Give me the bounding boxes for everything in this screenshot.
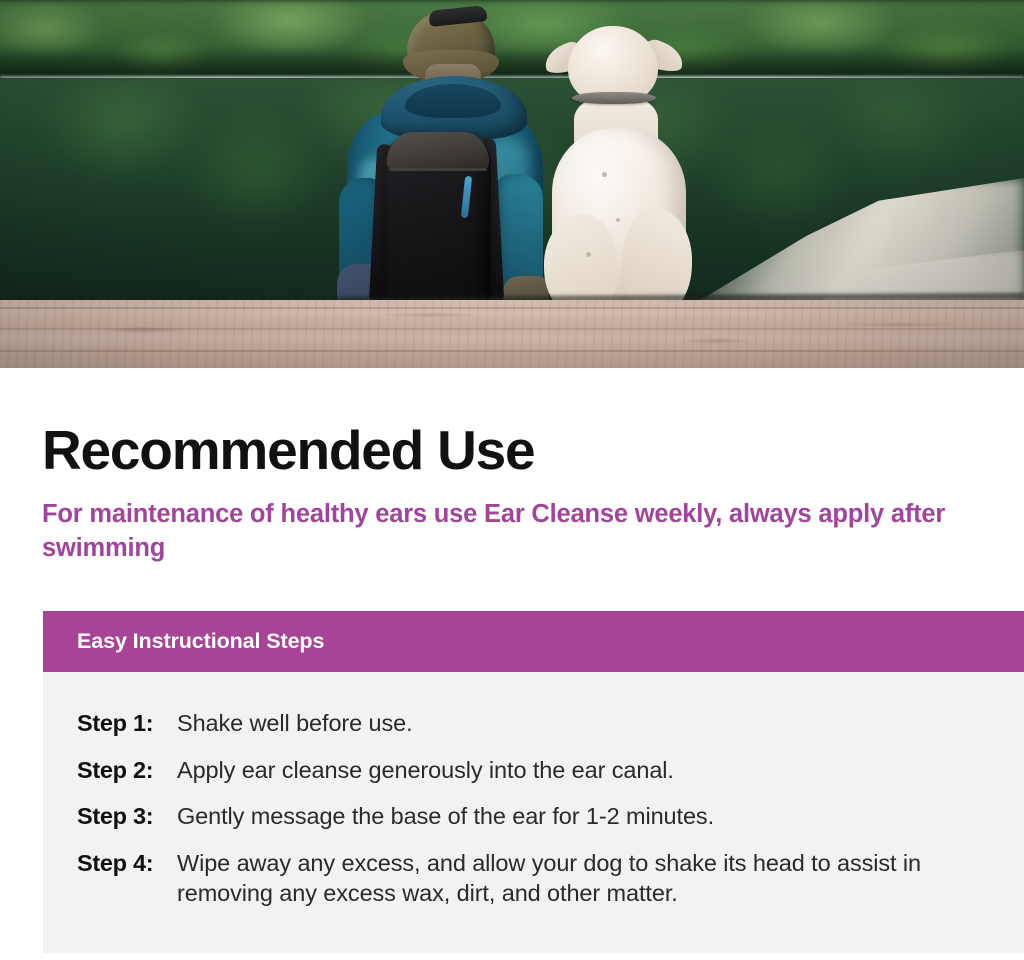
- step-label: Step 4:: [77, 848, 177, 879]
- step-label: Step 2:: [77, 755, 177, 786]
- backpack-top-panel: [387, 132, 489, 170]
- steps-list: Step 1: Shake well before use. Step 2: A…: [43, 672, 1024, 909]
- instructional-steps-panel: Easy Instructional Steps Step 1: Shake w…: [43, 611, 1024, 953]
- steps-panel-header-title: Easy Instructional Steps: [77, 629, 324, 654]
- steps-panel-header: Easy Instructional Steps: [43, 611, 1024, 672]
- list-item: Step 1: Shake well before use.: [77, 708, 984, 739]
- dog-marking: [616, 218, 620, 222]
- backpack-seam: [389, 168, 487, 171]
- list-item: Step 2: Apply ear cleanse generously int…: [77, 755, 984, 786]
- step-text: Wipe away any excess, and allow your dog…: [177, 848, 984, 909]
- list-item: Step 3: Gently message the base of the e…: [77, 801, 984, 832]
- product-info-page: Recommended Use For maintenance of healt…: [0, 0, 1024, 960]
- list-item: Step 4: Wipe away any excess, and allow …: [77, 848, 984, 909]
- step-text: Gently message the base of the ear for 1…: [177, 801, 984, 832]
- dog-collar: [572, 92, 656, 104]
- step-label: Step 3:: [77, 801, 177, 832]
- step-label: Step 1:: [77, 708, 177, 739]
- page-subtitle: For maintenance of healthy ears use Ear …: [0, 478, 1024, 565]
- page-title: Recommended Use: [0, 368, 1024, 478]
- dog-marking: [586, 252, 591, 257]
- step-text: Apply ear cleanse generously into the ea…: [177, 755, 984, 786]
- step-text: Shake well before use.: [177, 708, 984, 739]
- hero-photo: [0, 0, 1024, 368]
- dock-wood-grain: [0, 300, 1024, 368]
- content-section: Recommended Use For maintenance of healt…: [0, 368, 1024, 565]
- dog-marking: [602, 172, 607, 177]
